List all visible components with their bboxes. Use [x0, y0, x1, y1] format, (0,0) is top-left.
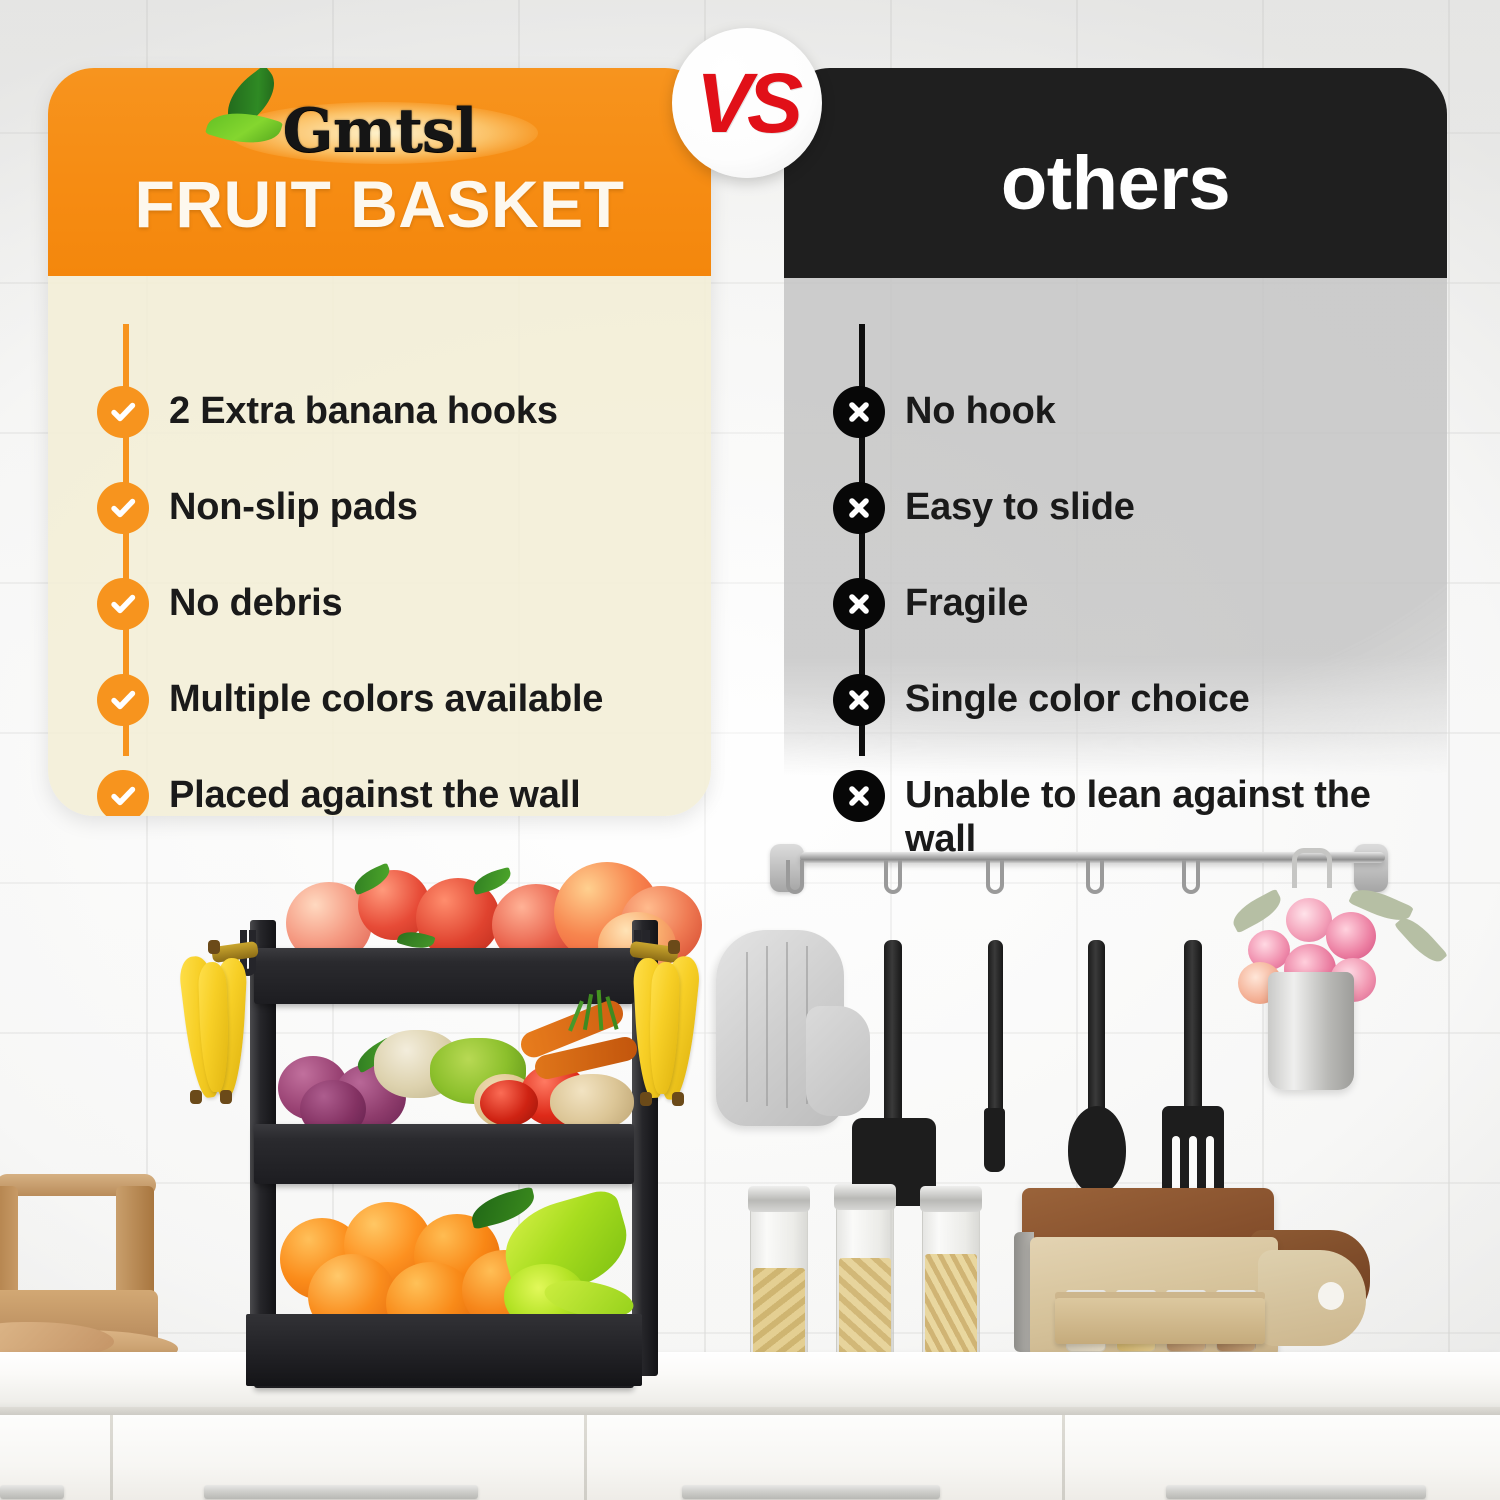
brand-name: Gmtsl — [282, 96, 476, 166]
brand-card-header: Gmtsl FRUIT BASKET — [48, 68, 711, 276]
brand-comparison-card: Gmtsl FRUIT BASKET 2 Extra banana hooks — [48, 68, 711, 816]
check-circle-icon — [97, 674, 149, 726]
feature-row: Fragile — [833, 578, 1028, 630]
check-circle-icon — [97, 386, 149, 438]
brand-card-title: FRUIT BASKET — [48, 166, 711, 242]
feature-row: No debris — [97, 578, 342, 630]
check-circle-icon — [97, 482, 149, 534]
feature-label: 2 Extra banana hooks — [169, 386, 558, 433]
feature-label: Easy to slide — [905, 482, 1135, 529]
others-feature-list: No hook Easy to slide Fragile — [784, 276, 1447, 776]
feature-row: Non-slip pads — [97, 482, 418, 534]
feature-row: Placed against the wall — [97, 770, 580, 816]
feature-row: Easy to slide — [833, 482, 1135, 534]
feature-label: Single color choice — [905, 674, 1250, 721]
comparison-overlay: Gmtsl FRUIT BASKET 2 Extra banana hooks — [0, 0, 1500, 1500]
feature-row: 2 Extra banana hooks — [97, 386, 558, 438]
feature-label: Non-slip pads — [169, 482, 418, 529]
feature-label: Fragile — [905, 578, 1028, 625]
feature-label: Placed against the wall — [169, 770, 580, 816]
feature-label: No hook — [905, 386, 1056, 433]
others-card-header: others — [784, 68, 1447, 278]
others-comparison-card: others No hook Easy to slide — [784, 68, 1447, 713]
x-circle-icon — [833, 578, 885, 630]
others-card-title: others — [784, 140, 1447, 227]
versus-badge-icon: VS — [672, 28, 822, 178]
feature-row: No hook — [833, 386, 1056, 438]
feature-label: Unable to lean against the wall — [905, 770, 1447, 861]
feature-row: Unable to lean against the wall — [833, 770, 1447, 861]
x-circle-icon — [833, 482, 885, 534]
x-circle-icon — [833, 770, 885, 822]
feature-row: Single color choice — [833, 674, 1250, 726]
feature-row: Multiple colors available — [97, 674, 603, 726]
check-circle-icon — [97, 578, 149, 630]
feature-label: Multiple colors available — [169, 674, 603, 721]
feature-label: No debris — [169, 578, 342, 625]
brand-feature-list: 2 Extra banana hooks Non-slip pads No de… — [48, 276, 711, 816]
versus-label: VS — [696, 55, 798, 152]
x-circle-icon — [833, 386, 885, 438]
check-circle-icon — [97, 770, 149, 816]
brand-logo: Gmtsl — [48, 94, 711, 168]
x-circle-icon — [833, 674, 885, 726]
